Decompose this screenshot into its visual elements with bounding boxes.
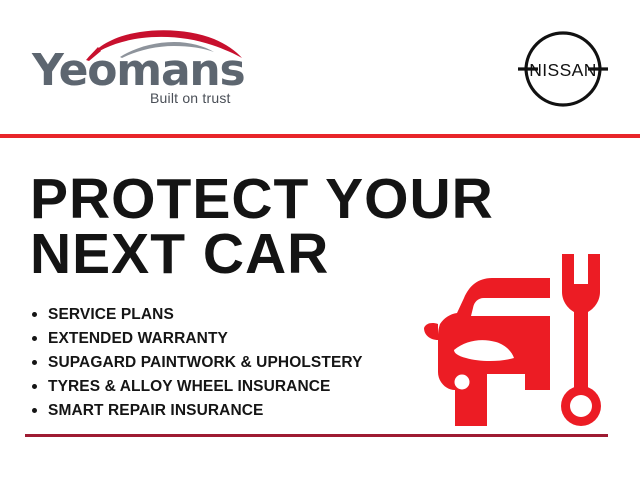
yeomans-tagline: Built on trust	[150, 90, 280, 106]
benefit-label: EXTENDED WARRANTY	[48, 330, 228, 347]
poster-main: PROTECT YOUR NEXT CAR SERVICE PLANS EXTE…	[0, 138, 640, 434]
list-item: EXTENDED WARRANTY	[30, 330, 450, 348]
list-item: SUPAGARD PAINTWORK & UPHOLSTERY	[30, 354, 450, 372]
bullet-dot-icon	[32, 360, 37, 365]
headline-line-1: PROTECT YOUR	[30, 172, 620, 227]
nissan-logo: NISSAN	[516, 28, 610, 108]
car-and-wrench-icon	[424, 240, 620, 436]
benefit-label: SMART REPAIR INSURANCE	[48, 402, 263, 419]
nissan-circle-logo-icon: NISSAN	[516, 28, 610, 108]
bullet-dot-icon	[32, 336, 37, 341]
list-item: TYRES & ALLOY WHEEL INSURANCE	[30, 378, 450, 396]
benefit-label: SERVICE PLANS	[48, 306, 174, 323]
list-item: SERVICE PLANS	[30, 306, 450, 324]
benefit-label: TYRES & ALLOY WHEEL INSURANCE	[48, 378, 331, 395]
promo-poster: Yeomans Built on trust NISSAN PROTECT YO…	[0, 0, 640, 480]
bullet-dot-icon	[32, 408, 37, 413]
nissan-wordmark: NISSAN	[529, 60, 597, 80]
bullet-dot-icon	[32, 384, 37, 389]
poster-header: Yeomans Built on trust NISSAN	[0, 0, 640, 134]
benefits-list: SERVICE PLANS EXTENDED WARRANTY SUPAGARD…	[30, 306, 450, 420]
list-item: SMART REPAIR INSURANCE	[30, 402, 450, 420]
benefit-label: SUPAGARD PAINTWORK & UPHOLSTERY	[48, 354, 363, 371]
footer-divider-rule	[25, 434, 608, 437]
bullet-dot-icon	[32, 312, 37, 317]
yeomans-wordmark: Yeomans	[32, 48, 244, 94]
yeomans-logo: Yeomans Built on trust	[32, 28, 244, 106]
